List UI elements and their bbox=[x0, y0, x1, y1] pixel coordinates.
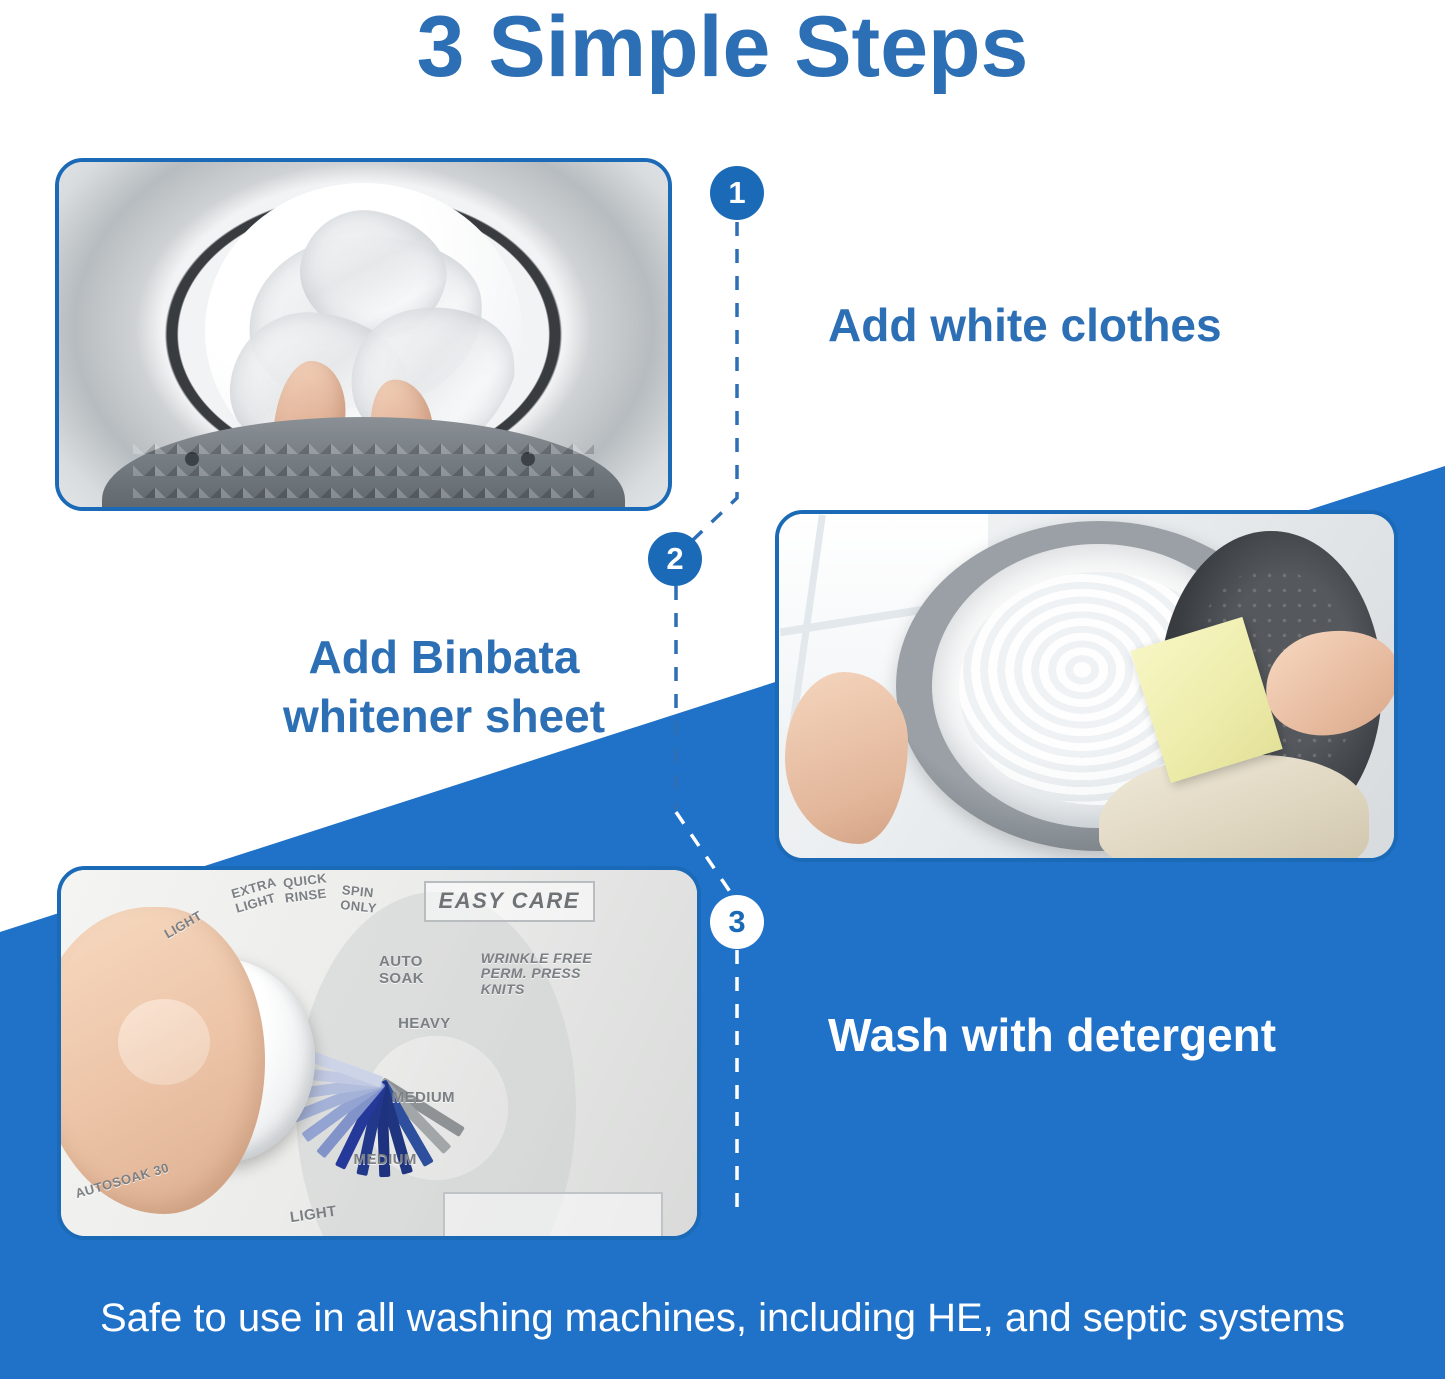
dial-label-spin-only: SPIN ONLY bbox=[339, 883, 378, 916]
step-marker-1-number: 1 bbox=[728, 175, 745, 211]
dial-label-auto-soak: AUTO SOAK bbox=[379, 954, 424, 988]
step-3-label: Wash with detergent bbox=[828, 1006, 1276, 1065]
step-2-image-card bbox=[775, 510, 1398, 862]
washing-machine-drum-photo bbox=[59, 162, 668, 507]
dial-label-medium-upper: MEDIUM bbox=[392, 1090, 455, 1107]
dial-label-heavy: HEAVY bbox=[398, 1016, 451, 1033]
step-marker-2[interactable]: 2 bbox=[648, 532, 702, 586]
step-2-label: Add Binbata whitener sheet bbox=[268, 628, 620, 746]
step-marker-3-number: 3 bbox=[728, 904, 745, 940]
dry-cycle-panel bbox=[443, 1192, 663, 1236]
gasket-hole bbox=[521, 452, 535, 466]
dial-label-quick-rinse: QUICK RINSE bbox=[282, 871, 329, 905]
step-1-label: Add white clothes bbox=[828, 296, 1222, 355]
step-marker-1[interactable]: 1 bbox=[710, 166, 764, 220]
inserting-sheet-photo bbox=[779, 514, 1394, 858]
dial-label-medium-lower: MEDIUM bbox=[354, 1152, 417, 1169]
dial-label-fabric-types: WRINKLE FREE PERM. PRESS KNITS bbox=[481, 951, 592, 998]
step-marker-3[interactable]: 3 bbox=[710, 895, 764, 949]
step-marker-2-number: 2 bbox=[666, 541, 683, 577]
page-title: 3 Simple Steps bbox=[0, 2, 1445, 92]
step-3-image-card: EXTRA LIGHT QUICK RINSE SPIN ONLY LIGHT … bbox=[57, 866, 701, 1240]
step-2-label-line-2: whitener sheet bbox=[268, 687, 620, 746]
bottom-caption: Safe to use in all washing machines, inc… bbox=[0, 1296, 1445, 1341]
step-1-image-card bbox=[55, 158, 672, 511]
washer-dial-photo: EXTRA LIGHT QUICK RINSE SPIN ONLY LIGHT … bbox=[61, 870, 697, 1236]
step-2-label-line-1: Add Binbata bbox=[268, 628, 620, 687]
thumbnail bbox=[118, 999, 210, 1085]
infographic-canvas: 3 Simple Steps bbox=[0, 0, 1445, 1379]
gasket-hole bbox=[185, 452, 199, 466]
dial-label-easy-care: EASY CARE bbox=[424, 881, 595, 922]
